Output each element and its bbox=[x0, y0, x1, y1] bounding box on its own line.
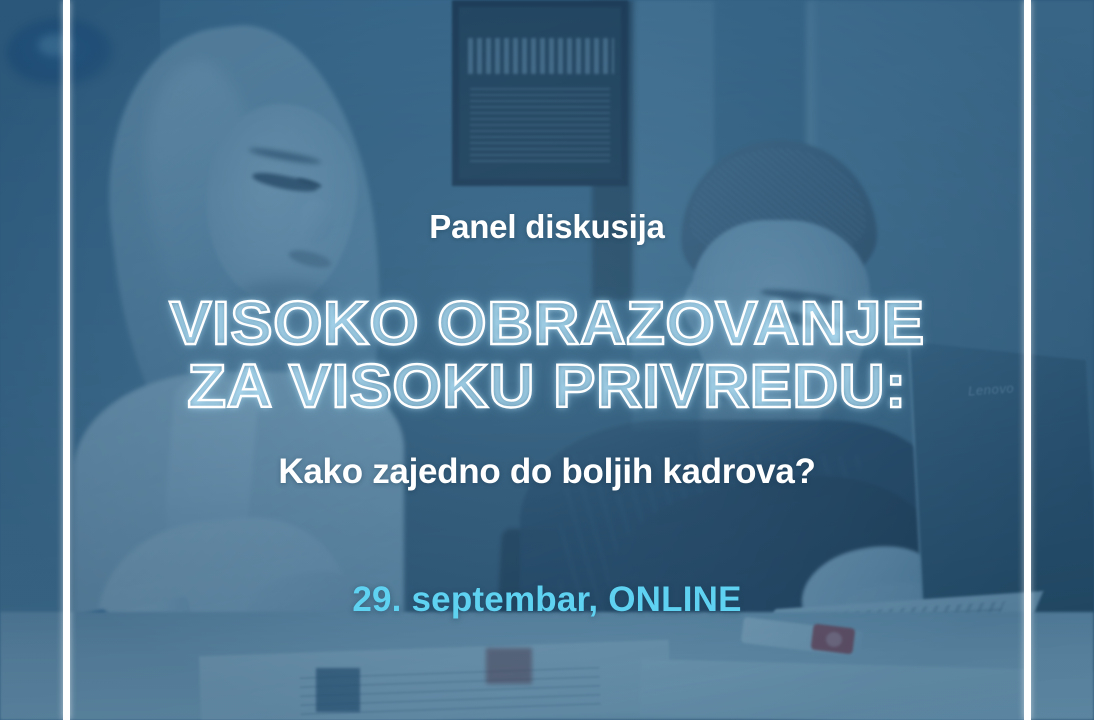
event-subline: Kako zajedno do boljih kadrova? bbox=[70, 452, 1024, 492]
event-headline: VISOKO OBRAZOVANJE ZA VISOKU PRIVREDU: bbox=[51, 292, 1043, 418]
event-kicker: Panel diskusija bbox=[70, 208, 1024, 246]
banner-text-block: Panel diskusija VISOKO OBRAZOVANJE ZA VI… bbox=[70, 0, 1024, 720]
headline-line-1: VISOKO OBRAZOVANJE bbox=[51, 292, 1043, 355]
headline-line-2: ZA VISOKU PRIVREDU: bbox=[51, 355, 1043, 418]
event-banner: Lenovo Panel diskusija VISOKO OBRAZOVANJ… bbox=[0, 0, 1094, 720]
event-dateline: 29. septembar, ONLINE bbox=[70, 580, 1024, 620]
